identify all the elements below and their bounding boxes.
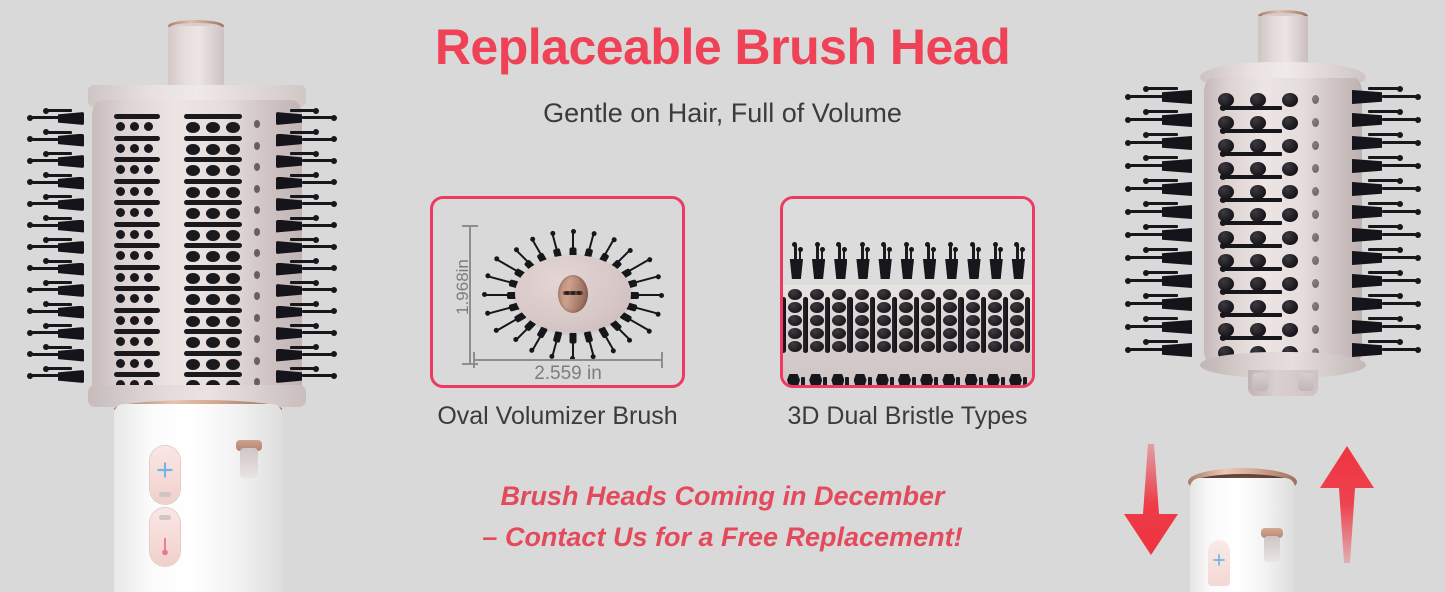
short-bristle-column xyxy=(876,285,892,357)
feature-card-oval-volumizer-brush: 1.968in 2.559 in xyxy=(430,196,685,431)
side-bristle xyxy=(48,131,72,134)
face-bristle-dot xyxy=(130,165,139,174)
bristle-bar xyxy=(892,297,897,353)
foot-stub xyxy=(823,377,827,388)
foot-stub xyxy=(979,377,983,388)
face-bristle-dot xyxy=(144,187,153,196)
side-bristle xyxy=(1130,187,1164,190)
side-bristle xyxy=(302,138,332,141)
head-socket xyxy=(1248,370,1318,396)
bristle-blob xyxy=(855,315,869,326)
side-bristle xyxy=(1130,233,1164,236)
face-bristle-dot xyxy=(116,208,125,217)
side-bristle xyxy=(1148,271,1178,274)
short-bristle-column xyxy=(1009,285,1025,357)
foot-stub xyxy=(912,377,916,388)
face-bristle-dot xyxy=(186,316,200,327)
width-dimension: 2.559 in xyxy=(473,359,663,387)
page-title: Replaceable Brush Head xyxy=(0,20,1445,75)
side-bristle-cup xyxy=(1162,297,1192,311)
side-bristle xyxy=(1148,248,1178,251)
bristle-blob xyxy=(966,302,980,313)
side-bristle xyxy=(1130,279,1164,282)
side-bristle xyxy=(1382,348,1416,351)
face-bristle-knob xyxy=(1282,185,1298,199)
side-bristle xyxy=(302,202,332,205)
face-bristle-bar xyxy=(1220,244,1282,248)
short-bristle-column xyxy=(854,285,870,357)
face-bristle-dot xyxy=(206,165,220,176)
face-bristle-dot xyxy=(186,187,200,198)
height-dimension: 1.968in xyxy=(449,225,475,365)
bristle-blob xyxy=(855,302,869,313)
side-bristle-cup xyxy=(1352,343,1382,357)
bristle-blob xyxy=(1010,302,1024,313)
side-bristle xyxy=(48,281,72,284)
side-bristle xyxy=(302,288,332,291)
face-bristle-bar xyxy=(184,179,242,184)
bristle-blob xyxy=(899,289,913,300)
face-bristle-dot xyxy=(116,359,125,368)
face-bristle-bar xyxy=(1220,198,1282,202)
side-bristle xyxy=(32,245,62,248)
side-bristle xyxy=(1148,156,1178,159)
side-bristle xyxy=(1130,348,1164,351)
bristle-blob xyxy=(921,289,935,300)
side-bristle-cup xyxy=(58,370,84,383)
foot-tuft xyxy=(876,374,889,388)
tuft-bead xyxy=(815,242,820,247)
tuft-cup xyxy=(1010,259,1025,279)
face-bristle-knob xyxy=(1282,277,1298,291)
face-bristle-knob xyxy=(1250,185,1266,199)
tuft-bead xyxy=(970,242,975,247)
bristle-blob xyxy=(921,328,935,339)
side-bristle xyxy=(302,267,332,270)
face-bristle-bar xyxy=(114,372,160,377)
foot-stub xyxy=(890,377,894,388)
face-bristle-dot xyxy=(206,187,220,198)
foot-tuft xyxy=(965,374,978,388)
face-bristle-knob xyxy=(1282,323,1298,337)
side-bristle xyxy=(290,260,314,263)
foot-tuft xyxy=(987,374,1000,388)
face-bristle-dot xyxy=(130,144,139,153)
side-bristle-cup xyxy=(1352,320,1382,334)
long-bristle-tuft xyxy=(921,225,936,279)
face-bristle-bar xyxy=(1220,290,1282,294)
bristle-blob xyxy=(788,302,802,313)
face-bristle-dot xyxy=(186,208,200,219)
foot-tuft xyxy=(787,374,800,388)
side-bristle xyxy=(290,174,314,177)
foot-tuft xyxy=(920,374,933,388)
bristle-bar xyxy=(914,297,919,353)
face-bristle-dot xyxy=(116,337,125,346)
side-bristle xyxy=(1382,279,1416,282)
tuft-cup xyxy=(832,259,847,279)
tuft-bead xyxy=(953,247,958,252)
side-bristle-cup xyxy=(58,155,84,168)
side-bristle xyxy=(1382,164,1416,167)
tuft-cup xyxy=(966,259,981,279)
side-bristle xyxy=(1382,141,1416,144)
tuft-bead xyxy=(842,247,847,252)
face-bristle-dot xyxy=(144,251,153,260)
bottom-bristle-row xyxy=(783,359,1032,388)
side-bristle-cup xyxy=(58,241,84,254)
foot-tuft xyxy=(898,374,911,388)
side-bristle xyxy=(1368,271,1398,274)
face-bristle-bar xyxy=(184,222,242,227)
side-bristle xyxy=(1130,210,1164,213)
face-vent-hole xyxy=(254,335,260,343)
side-bristle xyxy=(290,367,314,370)
face-vent-hole xyxy=(254,185,260,193)
face-bristle-bar xyxy=(184,157,242,162)
side-bristle xyxy=(32,288,62,291)
long-bristle-tuft xyxy=(943,225,958,279)
bristle-blob xyxy=(988,289,1002,300)
face-bristle-dot xyxy=(144,316,153,325)
side-bristle xyxy=(32,224,62,227)
side-bristle xyxy=(32,202,62,205)
tuft-bead xyxy=(820,247,825,252)
face-bristle-knob xyxy=(1250,323,1266,337)
face-bristle-dot xyxy=(206,337,220,348)
side-bristle xyxy=(1148,202,1178,205)
bristle-blob xyxy=(855,289,869,300)
face-bristle-dot xyxy=(130,294,139,303)
short-bristle-column xyxy=(920,285,936,357)
bristle-blob xyxy=(1010,328,1024,339)
feature-cards: 1.968in 2.559 in xyxy=(430,196,1050,446)
bristle-blob xyxy=(810,315,824,326)
side-bristle-cup xyxy=(1352,159,1382,173)
bristle-blob xyxy=(943,302,957,313)
side-bristle xyxy=(290,152,314,155)
bristle-scene xyxy=(783,199,1032,385)
bristle-blob xyxy=(1010,289,1024,300)
oval-brush-diagram: 1.968in 2.559 in xyxy=(430,196,685,388)
foot-stub xyxy=(1023,377,1027,388)
face-bristle-dot xyxy=(226,273,240,284)
face-vent-hole xyxy=(1312,256,1319,265)
long-bristle-tuft xyxy=(877,225,892,279)
face-bristle-dot xyxy=(116,165,125,174)
face-bristle-knob xyxy=(1282,208,1298,222)
face-bristle-dot xyxy=(226,316,240,327)
side-bristle xyxy=(48,367,72,370)
side-bristle xyxy=(302,224,332,227)
face-bristle-dot xyxy=(144,359,153,368)
foot-stub xyxy=(868,377,872,388)
face-vent-hole xyxy=(254,249,260,257)
short-bristle-column xyxy=(787,285,803,357)
face-bristle-bar xyxy=(184,200,242,205)
bristle-bar xyxy=(981,297,986,353)
bristle-bar xyxy=(1025,297,1030,353)
face-bristle-dot xyxy=(226,294,240,305)
bristle-blob xyxy=(855,328,869,339)
face-bristle-bar xyxy=(184,372,242,377)
face-bristle-knob xyxy=(1250,254,1266,268)
face-vent-hole xyxy=(1312,164,1319,173)
short-bristle-column xyxy=(809,285,825,357)
side-bristle xyxy=(1130,164,1164,167)
face-bristle-dot xyxy=(206,316,220,327)
side-bristle-cup xyxy=(1162,320,1192,334)
tuft-bead xyxy=(1014,242,1019,247)
short-bristle-column xyxy=(831,285,847,357)
face-bristle-dot xyxy=(226,187,240,198)
face-bristle-knob xyxy=(1250,162,1266,176)
face-bristle-bar xyxy=(184,351,242,356)
side-bristle xyxy=(48,346,72,349)
face-bristle-dot xyxy=(186,251,200,262)
face-bristle-dot xyxy=(130,187,139,196)
oval-bristle-base xyxy=(584,330,594,342)
bristle-blob xyxy=(788,315,802,326)
face-vent-hole xyxy=(254,271,260,279)
bristle-blob xyxy=(988,341,1002,352)
promo-line-2: – Contact Us for a Free Replacement! xyxy=(0,517,1445,558)
tuft-cup xyxy=(855,259,870,279)
short-bristle-column xyxy=(898,285,914,357)
face-bristle-knob xyxy=(1250,300,1266,314)
bristle-blob xyxy=(921,341,935,352)
promo-message: Brush Heads Coming in December – Contact… xyxy=(0,476,1445,557)
tuft-bead xyxy=(993,242,998,247)
face-vent-hole xyxy=(1312,325,1319,334)
oval-hub xyxy=(558,275,588,313)
side-bristle-cup xyxy=(1162,228,1192,242)
short-bristle-column xyxy=(942,285,958,357)
tuft-bead xyxy=(881,242,886,247)
side-bristle xyxy=(48,174,72,177)
face-bristle-dot xyxy=(144,337,153,346)
face-bristle-knob xyxy=(1250,231,1266,245)
side-bristle-cup xyxy=(58,284,84,297)
face-bristle-dot xyxy=(226,208,240,219)
tuft-cup xyxy=(877,259,892,279)
tuft-cup xyxy=(810,259,825,279)
bristle-blob xyxy=(899,328,913,339)
side-bristle xyxy=(1148,87,1178,90)
side-bristle xyxy=(302,245,332,248)
face-bristle-bar xyxy=(1220,221,1282,225)
side-bristle xyxy=(290,195,314,198)
side-bristle-cup xyxy=(58,198,84,211)
face-bristle-dot xyxy=(186,144,200,155)
bristle-blob xyxy=(943,328,957,339)
bristle-blob xyxy=(877,289,891,300)
tuft-cup xyxy=(921,259,936,279)
bristle-blob xyxy=(810,341,824,352)
bristle-bar xyxy=(803,297,808,353)
face-bristle-dot xyxy=(116,251,125,260)
bristle-blob xyxy=(943,341,957,352)
face-bristle-knob xyxy=(1282,254,1298,268)
height-dimension-label: 1.968in xyxy=(453,227,473,347)
bristle-blob xyxy=(832,315,846,326)
bristle-bar xyxy=(825,297,830,353)
side-bristle xyxy=(290,346,314,349)
face-bristle-bar xyxy=(184,286,242,291)
face-bristle-dot xyxy=(206,230,220,241)
socket-tab-right xyxy=(1298,373,1314,391)
side-bristle-cup xyxy=(1352,136,1382,150)
face-bristle-bar xyxy=(114,351,160,356)
face-bristle-dot xyxy=(206,251,220,262)
side-bristle-cup xyxy=(1352,205,1382,219)
face-bristle-dot xyxy=(226,359,240,370)
face-bristle-bar xyxy=(184,329,242,334)
face-bristle-bar xyxy=(114,286,160,291)
side-bristle xyxy=(32,138,62,141)
feature-caption: 3D Dual Bristle Types xyxy=(780,402,1035,431)
hub-dots xyxy=(565,291,582,295)
face-bristle-bar xyxy=(1220,267,1282,271)
face-bristle-dot xyxy=(116,144,125,153)
face-bristle-knob xyxy=(1282,300,1298,314)
tuft-bead xyxy=(909,247,914,252)
side-bristle-cup xyxy=(58,327,84,340)
tuft-bead xyxy=(998,247,1003,252)
side-bristle xyxy=(48,195,72,198)
face-bristle-dot xyxy=(144,165,153,174)
face-vent-hole xyxy=(254,206,260,214)
bristle-blob xyxy=(899,302,913,313)
side-bristle xyxy=(1368,317,1398,320)
face-bristle-bar xyxy=(114,157,160,162)
tuft-bead xyxy=(931,247,936,252)
side-bristle xyxy=(290,217,314,220)
face-bristle-dot xyxy=(116,316,125,325)
tuft-bead xyxy=(948,242,953,247)
page-subtitle: Gentle on Hair, Full of Volume xyxy=(0,98,1445,129)
side-bristle xyxy=(48,303,72,306)
foot-tuft xyxy=(854,374,867,388)
bristle-bar xyxy=(781,297,786,353)
bristle-blob xyxy=(966,289,980,300)
side-bristle xyxy=(1382,233,1416,236)
face-vent-hole xyxy=(254,228,260,236)
side-bristle xyxy=(1368,340,1398,343)
side-bristle xyxy=(1368,248,1398,251)
bristle-bar xyxy=(848,297,853,353)
face-bristle-dot xyxy=(130,273,139,282)
face-bristle-dot xyxy=(186,337,200,348)
face-vent-hole xyxy=(1312,210,1319,219)
face-bristle-dot xyxy=(116,294,125,303)
feature-caption: Oval Volumizer Brush xyxy=(430,402,685,431)
side-bristle-cup xyxy=(1352,228,1382,242)
face-bristle-dot xyxy=(206,273,220,284)
face-bristle-dot xyxy=(206,208,220,219)
side-bristle xyxy=(1148,179,1178,182)
side-bristle xyxy=(302,331,332,334)
tuft-bead xyxy=(865,247,870,252)
face-bristle-dot xyxy=(226,251,240,262)
short-bristle-column xyxy=(987,285,1003,357)
face-bristle-dot xyxy=(144,273,153,282)
face-bristle-dot xyxy=(116,273,125,282)
face-bristle-bar xyxy=(1220,313,1282,317)
side-bristle xyxy=(1368,202,1398,205)
foot-stub xyxy=(845,377,849,388)
side-bristle xyxy=(302,310,332,313)
face-bristle-knob xyxy=(1282,231,1298,245)
bristle-blob xyxy=(855,341,869,352)
side-bristle xyxy=(290,324,314,327)
foot-stub xyxy=(801,377,805,388)
face-bristle-dot xyxy=(130,359,139,368)
face-vent-hole xyxy=(254,357,260,365)
bristle-blob xyxy=(966,315,980,326)
side-bristle xyxy=(48,152,72,155)
face-bristle-bar xyxy=(114,222,160,227)
face-bristle-dot xyxy=(206,359,220,370)
foot-stub xyxy=(934,377,938,388)
side-bristle xyxy=(1368,87,1398,90)
feature-card-dual-bristle-types: 3D Dual Bristle Types xyxy=(780,196,1035,431)
long-bristle-tuft xyxy=(788,225,803,279)
bristle-blob xyxy=(877,315,891,326)
side-bristle xyxy=(32,353,62,356)
tuft-bead xyxy=(798,247,803,252)
tuft-bead xyxy=(1020,247,1025,252)
face-vent-hole xyxy=(1312,302,1319,311)
side-bristle xyxy=(48,217,72,220)
side-bristle xyxy=(1368,179,1398,182)
face-bristle-dot xyxy=(130,230,139,239)
tuft-cup xyxy=(788,259,803,279)
long-bristle-tuft xyxy=(988,225,1003,279)
face-vent-hole xyxy=(254,314,260,322)
side-bristle xyxy=(1368,156,1398,159)
face-bristle-bar xyxy=(114,308,160,313)
face-bristle-knob xyxy=(1282,139,1298,153)
face-bristle-bar xyxy=(1220,336,1282,340)
face-bristle-bar xyxy=(114,179,160,184)
face-bristle-bar xyxy=(114,329,160,334)
side-bristle-cup xyxy=(1352,274,1382,288)
side-bristle xyxy=(290,131,314,134)
bristle-blob xyxy=(810,302,824,313)
release-latch[interactable] xyxy=(240,448,258,478)
side-bristle xyxy=(1368,225,1398,228)
side-bristle xyxy=(1148,225,1178,228)
side-bristle-cup xyxy=(1162,159,1192,173)
foot-tuft xyxy=(831,374,844,388)
face-bristle-bar xyxy=(1220,152,1282,156)
tuft-bead xyxy=(860,242,865,247)
bristle-bar xyxy=(870,297,875,353)
face-bristle-bar xyxy=(114,136,160,141)
foot-tuft xyxy=(1009,374,1022,388)
face-bristle-bar xyxy=(184,308,242,313)
bristle-blob xyxy=(899,315,913,326)
face-bristle-dot xyxy=(226,230,240,241)
face-bristle-bar xyxy=(184,136,242,141)
promo-banner: Replaceable Brush Head Gentle on Hair, F… xyxy=(0,0,1445,592)
side-bristle xyxy=(1130,141,1164,144)
foot-stub xyxy=(1001,377,1005,388)
side-bristle xyxy=(32,331,62,334)
side-bristle xyxy=(1148,317,1178,320)
bristle-blob xyxy=(832,289,846,300)
